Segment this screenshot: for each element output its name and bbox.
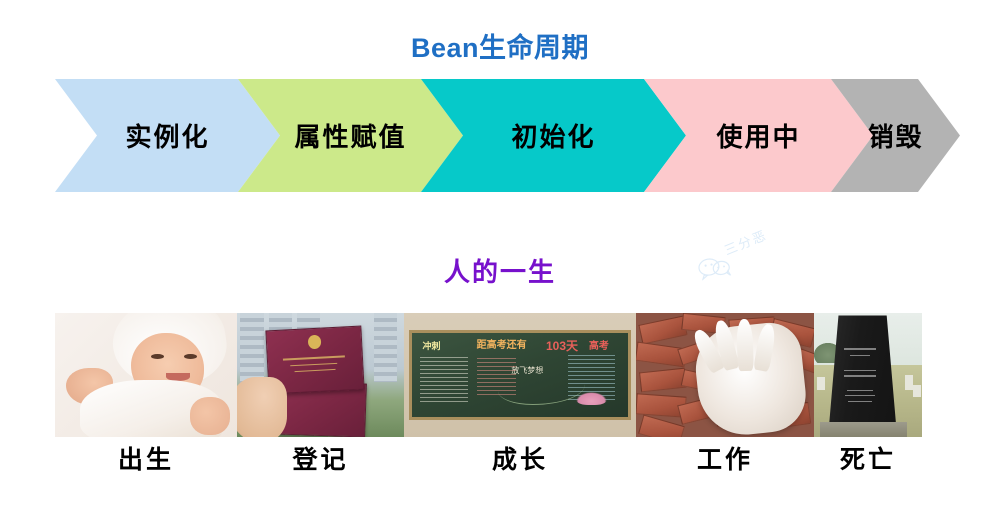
blackboard-left-title: 冲刺 xyxy=(422,342,440,351)
blackboard-days-remaining: 103天 xyxy=(546,340,578,352)
life-stage-label-work: 工作 xyxy=(636,440,814,476)
household-registry-booklet-photo xyxy=(237,313,404,437)
gravestone-photo xyxy=(814,313,922,437)
life-stage-photo-strip: 冲刺 距高考还有 103天 高考 放飞梦想 xyxy=(55,313,922,437)
process-step-label: 属性赋值 xyxy=(294,117,406,154)
page-title: Bean生命周期 xyxy=(0,26,1000,65)
process-step-label: 销毁 xyxy=(867,117,923,154)
section-title-human-life: 人的一生 xyxy=(0,252,1000,289)
school-blackboard-countdown-photo: 冲刺 距高考还有 103天 高考 放飞梦想 xyxy=(404,313,636,437)
process-step-instantiation[interactable]: 实例化 xyxy=(55,79,280,192)
process-step-label: 实例化 xyxy=(125,117,209,154)
life-stage-label-birth: 出生 xyxy=(55,440,237,476)
process-step-label: 初始化 xyxy=(511,117,595,154)
bean-lifecycle-process-band: 实例化 属性赋值 初始化 使用中 销毁 xyxy=(55,79,960,192)
blackboard-countdown-text: 距高考还有 xyxy=(477,341,527,351)
life-stage-label-growth: 成长 xyxy=(404,440,636,476)
process-step-label: 使用中 xyxy=(716,117,800,154)
life-stage-label-registration: 登记 xyxy=(237,440,404,476)
work-glove-on-bricks-photo xyxy=(636,313,814,437)
life-stage-label-death: 死亡 xyxy=(814,440,922,476)
newborn-baby-photo xyxy=(55,313,237,437)
life-stage-label-row: 出生 登记 成长 工作 死亡 xyxy=(55,440,922,480)
blackboard-right-title: 高考 xyxy=(589,342,609,352)
